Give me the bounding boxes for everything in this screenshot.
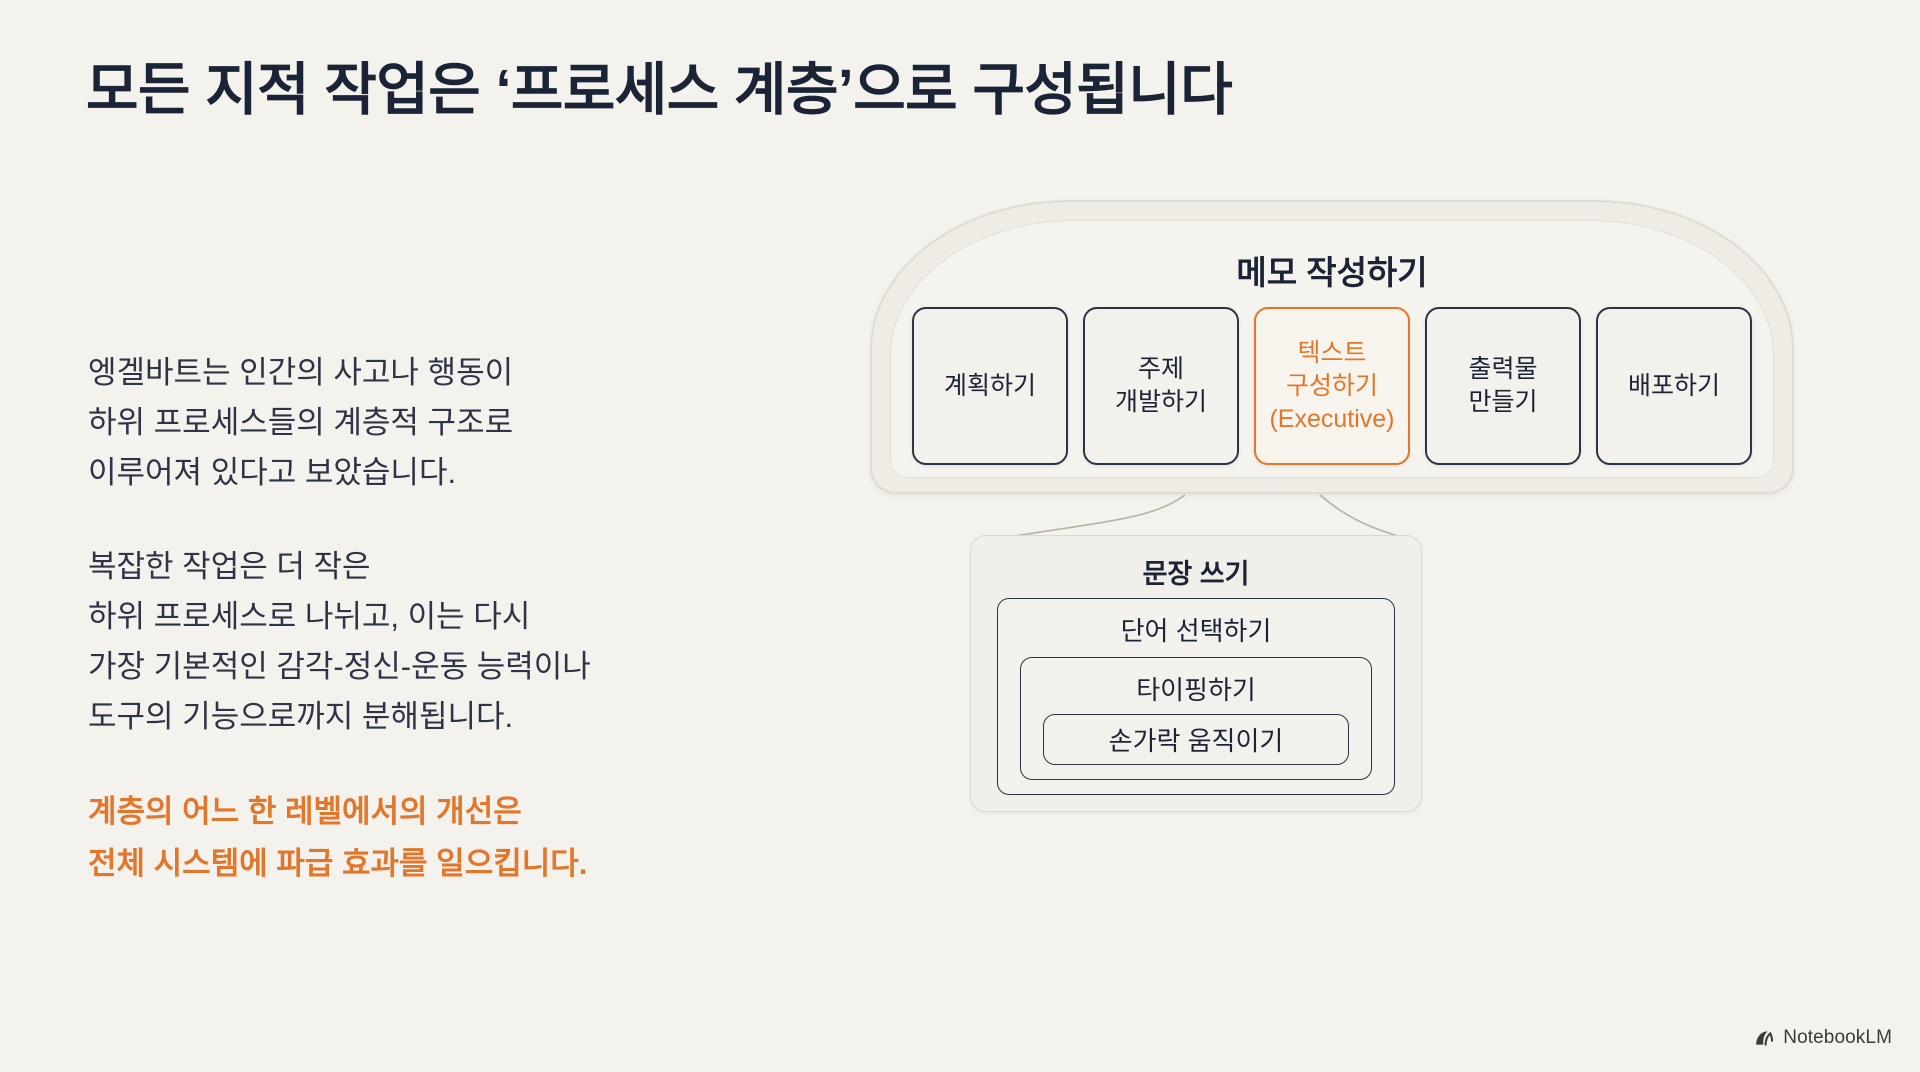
nested-level-0-label: 문장 쓰기 [971,536,1421,591]
nested-level-1: 단어 선택하기 타이핑하기 손가락 움직이기 [997,598,1395,795]
notebooklm-logo-icon [1752,1026,1776,1050]
nested-level-1-label: 단어 선택하기 [998,599,1394,648]
subprocess-node-4[interactable]: 출력물 만들기 [1425,307,1581,465]
nested-level-3: 손가락 움직이기 [1043,714,1349,765]
nested-level-3-label: 손가락 움직이기 [1109,721,1284,758]
paragraph-1: 엥겔바트는 인간의 사고나 행동이 하위 프로세스들의 계층적 구조로 이루어져… [88,348,748,498]
parent-process-label: 메모 작성하기 [872,246,1792,294]
subprocess-node-1[interactable]: 계획하기 [912,307,1068,465]
brand-footer: NotebookLM [1752,1026,1892,1050]
nested-level-0: 문장 쓰기 단어 선택하기 타이핑하기 손가락 움직이기 [970,535,1422,812]
nested-level-2: 타이핑하기 손가락 움직이기 [1020,657,1372,780]
left-text-column: 엥겔바트는 인간의 사고나 행동이 하위 프로세스들의 계층적 구조로 이루어져… [88,348,748,890]
parent-process-container: 메모 작성하기 계획하기 주제 개발하기 텍스트 구성하기 (Executive… [870,200,1794,494]
subprocess-node-5[interactable]: 배포하기 [1596,307,1752,465]
page-title: 모든 지적 작업은 ‘프로세스 계층’으로 구성됩니다 [86,56,1232,124]
paragraph-2: 복잡한 작업은 더 작은 하위 프로세스로 나뉘고, 이는 다시 가장 기본적인… [88,542,748,742]
brand-name: NotebookLM [1783,1027,1892,1049]
process-hierarchy-diagram: 메모 작성하기 계획하기 주제 개발하기 텍스트 구성하기 (Executive… [860,190,1860,1010]
slide-root: 모든 지적 작업은 ‘프로세스 계층’으로 구성됩니다 엥겔바트는 인간의 사고… [0,0,1920,1072]
subprocess-row: 계획하기 주제 개발하기 텍스트 구성하기 (Executive) 출력물 만들… [912,307,1752,465]
paragraph-3-highlight: 계층의 어느 한 레벨에서의 개선은 전체 시스템에 파급 효과를 일으킵니다. [88,786,748,890]
nested-level-2-label: 타이핑하기 [1021,658,1371,707]
subprocess-node-3-executive[interactable]: 텍스트 구성하기 (Executive) [1254,307,1410,465]
subprocess-node-2[interactable]: 주제 개발하기 [1083,307,1239,465]
